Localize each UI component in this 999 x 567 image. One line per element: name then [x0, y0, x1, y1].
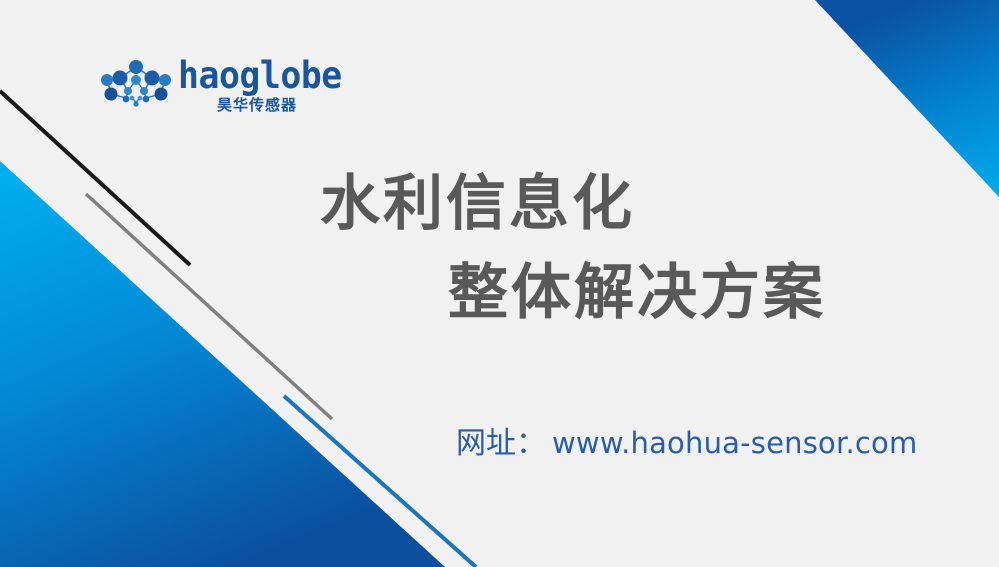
logo-text-group: haoglobe 昊华传感器	[178, 56, 323, 118]
website-label: 网址：	[456, 426, 546, 461]
website-url[interactable]: www.haohua-sensor.com	[552, 426, 917, 460]
logo-subtext-chinese: 昊华传感器	[217, 96, 297, 114]
presentation-slide: haoglobe 昊华传感器 水利信息化 整体解决方案 网址：www.haohu…	[0, 0, 999, 567]
logo-wordmark: haoglobe	[178, 56, 342, 96]
company-logo: haoglobe 昊华传感器	[98, 56, 323, 118]
molecule-network-icon	[98, 58, 174, 108]
website-line: 网址：www.haohua-sensor.com	[456, 421, 917, 471]
